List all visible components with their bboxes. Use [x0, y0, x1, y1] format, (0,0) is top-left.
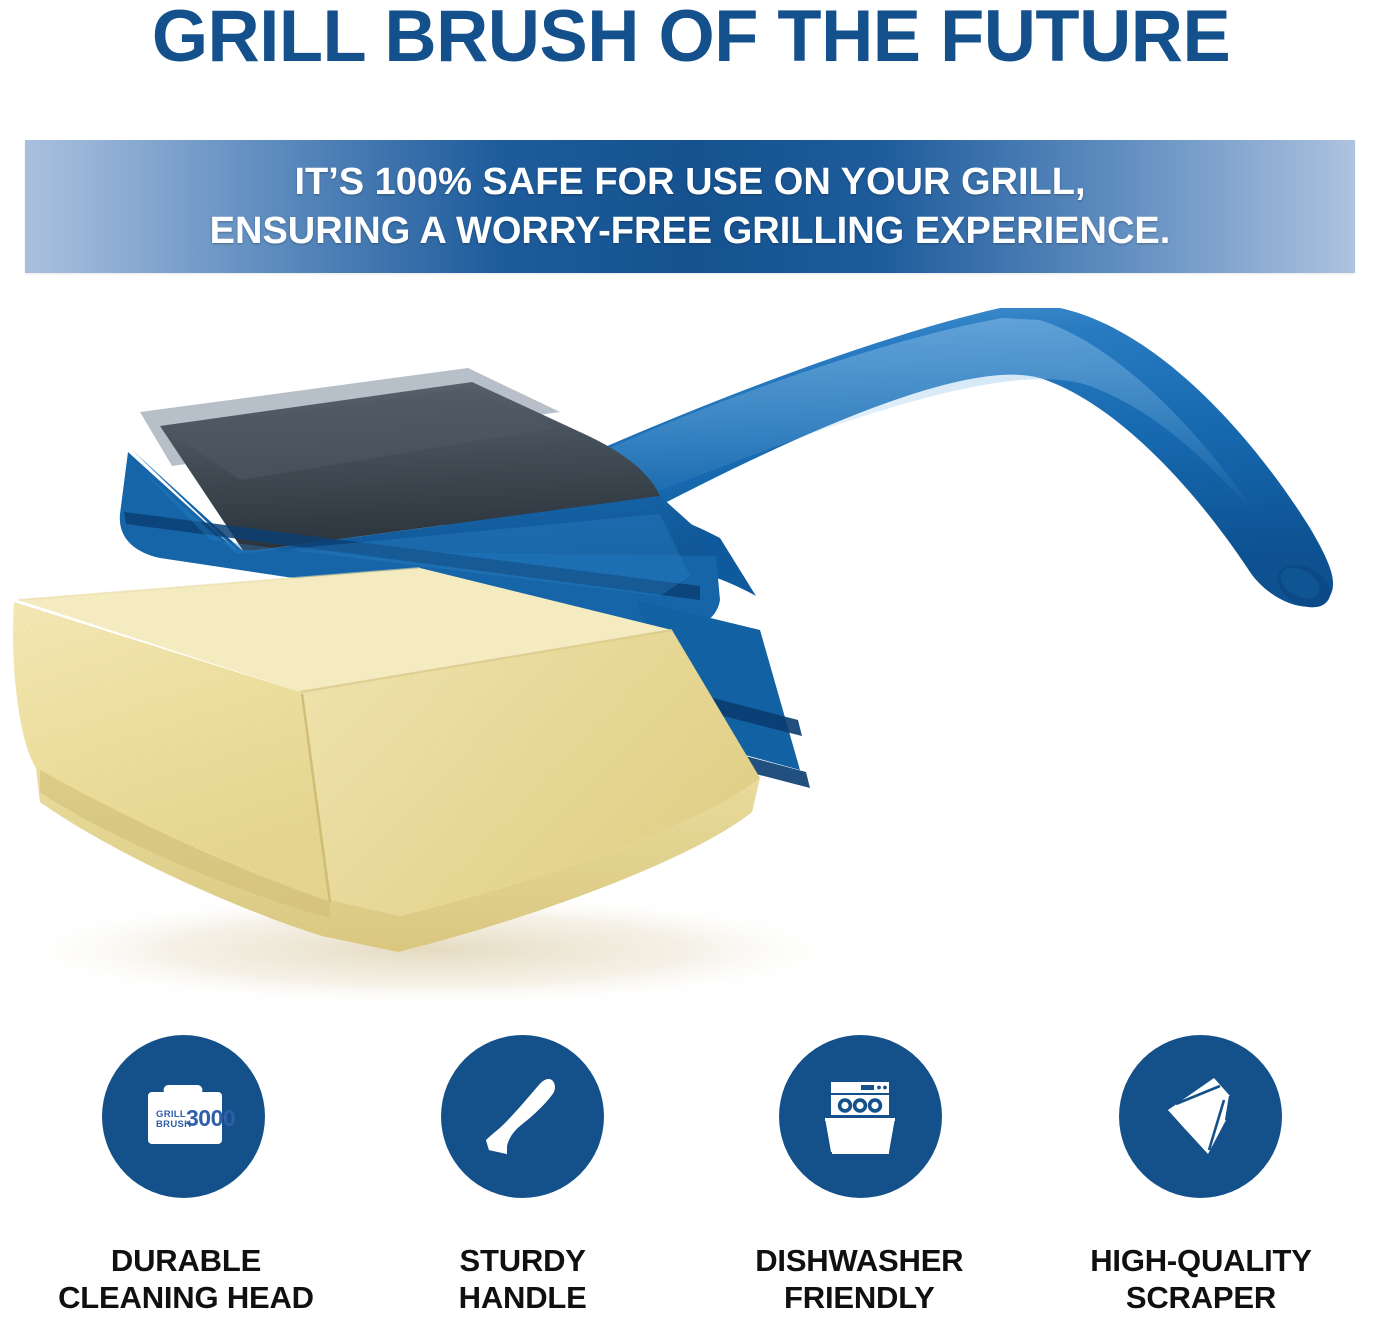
- cleaning-pad: [13, 568, 760, 952]
- feature-icon-circle: [441, 1035, 604, 1198]
- feature-high-quality-scraper: HIGH-QUALITY SCRAPER: [1036, 1035, 1356, 1316]
- feature-sturdy-handle: STURDY HANDLE: [363, 1035, 683, 1316]
- product-image: [0, 300, 1382, 1020]
- tagline-line-1: IT’S 100% SAFE FOR USE ON YOUR GRILL,: [210, 158, 1171, 207]
- feature-label-line-2: HANDLE: [459, 1279, 587, 1316]
- feature-label: HIGH-QUALITY SCRAPER: [1090, 1242, 1311, 1316]
- feature-icon-circle: GRILL BRUSH 3000: [102, 1035, 265, 1198]
- head-icon-model: 3000: [186, 1105, 235, 1131]
- dishwasher-icon: [805, 1062, 915, 1172]
- product-infographic: GRILL BRUSH OF THE FUTURE IT’S 100% SAFE…: [0, 0, 1382, 1333]
- feature-label-line-2: FRIENDLY: [755, 1279, 963, 1316]
- cleaning-head-icon: GRILL BRUSH 3000: [128, 1062, 238, 1172]
- feature-label: STURDY HANDLE: [459, 1242, 587, 1316]
- product-illustration: [0, 300, 1382, 1020]
- feature-label-line-2: CLEANING HEAD: [58, 1279, 314, 1316]
- feature-label-line-1: DURABLE: [58, 1242, 314, 1279]
- brush-handle-icon: [468, 1062, 578, 1172]
- tagline-line-2: ENSURING A WORRY-FREE GRILLING EXPERIENC…: [210, 207, 1171, 256]
- scraper-blade-icon: [1146, 1062, 1256, 1172]
- feature-label-line-1: HIGH-QUALITY: [1090, 1242, 1311, 1279]
- feature-label-line-1: STURDY: [459, 1242, 587, 1279]
- feature-icon-circle: [779, 1035, 942, 1198]
- feature-label-line-2: SCRAPER: [1090, 1279, 1311, 1316]
- tagline-text: IT’S 100% SAFE FOR USE ON YOUR GRILL, EN…: [210, 158, 1171, 256]
- feature-label: DISHWASHER FRIENDLY: [755, 1242, 963, 1316]
- feature-label: DURABLE CLEANING HEAD: [58, 1242, 314, 1316]
- feature-icon-circle: [1119, 1035, 1282, 1198]
- feature-durable-cleaning-head: GRILL BRUSH 3000 DURABLE CLEANING HEAD: [26, 1035, 346, 1316]
- tagline-banner: IT’S 100% SAFE FOR USE ON YOUR GRILL, EN…: [25, 140, 1355, 273]
- feature-dishwasher-friendly: DISHWASHER FRIENDLY: [699, 1035, 1019, 1316]
- feature-label-line-1: DISHWASHER: [755, 1242, 963, 1279]
- page-title: GRILL BRUSH OF THE FUTURE: [7, 0, 1375, 78]
- feature-row: GRILL BRUSH 3000 DURABLE CLEANING HEAD S…: [0, 1035, 1382, 1333]
